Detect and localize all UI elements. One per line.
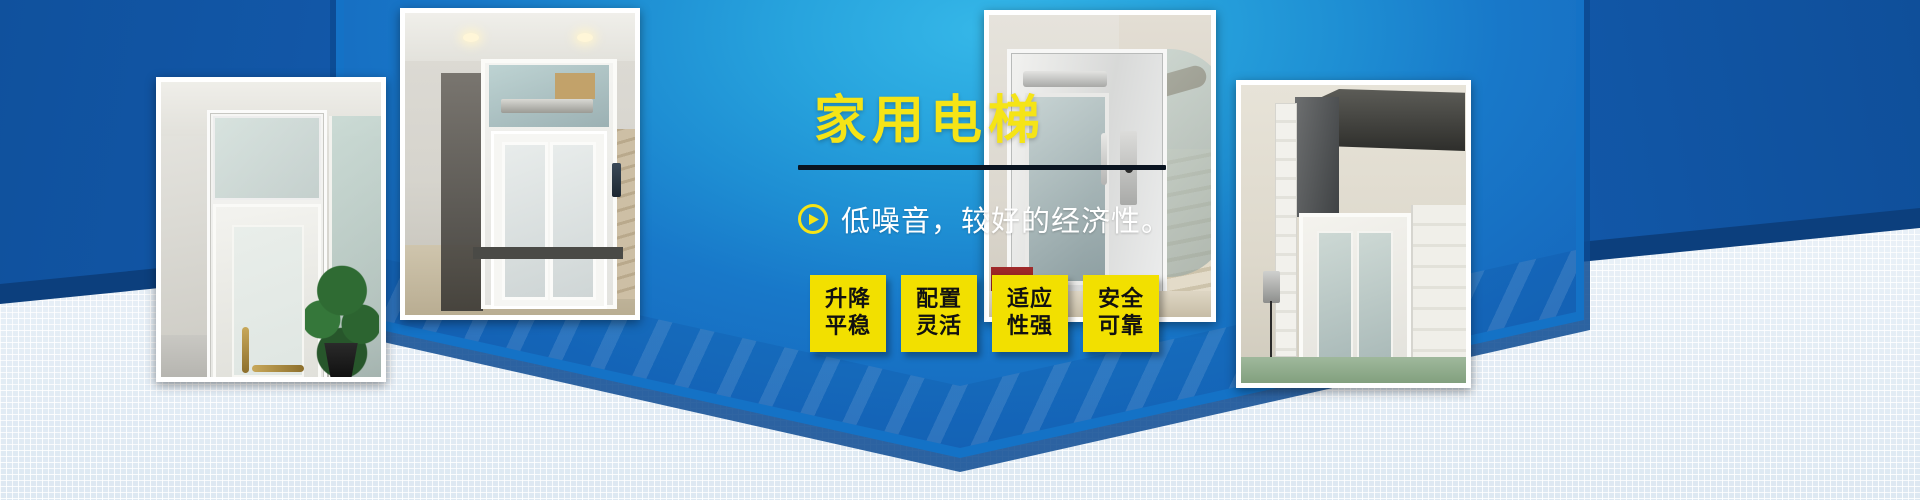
feature-tag-line2: 平稳 bbox=[825, 314, 871, 341]
photo-2-artwork bbox=[405, 13, 635, 315]
photo-4-artwork bbox=[1241, 85, 1466, 383]
circle-play-arrow-icon bbox=[798, 204, 828, 234]
photo-1-artwork bbox=[161, 82, 381, 377]
photo-home-elevator-glass-white bbox=[156, 77, 386, 382]
feature-tag-line2: 灵活 bbox=[916, 314, 962, 341]
feature-tag-line1: 升降 bbox=[825, 287, 871, 314]
subtitle-row: 低噪音，较好的经济性。 bbox=[798, 198, 1171, 240]
photo-home-elevator-installation bbox=[1236, 80, 1471, 388]
feature-tag-line1: 配置 bbox=[916, 287, 962, 314]
feature-tag-list: 升降 平稳 配置 灵活 适应 性强 安全 可靠 bbox=[810, 275, 1159, 352]
feature-tag-line1: 安全 bbox=[1098, 287, 1144, 314]
page-title: 家用电梯 bbox=[700, 78, 1160, 153]
feature-tag-line1: 适应 bbox=[1007, 287, 1053, 314]
feature-tag-line2: 可靠 bbox=[1098, 314, 1144, 341]
feature-tag-line2: 性强 bbox=[1007, 314, 1053, 341]
banner-content: 家用电梯 低噪音，较好的经济性。 升降 平稳 配置 灵活 适应 性强 bbox=[650, 0, 1270, 500]
photo-home-elevator-hallway bbox=[400, 8, 640, 320]
home-elevator-banner: 家用电梯 低噪音，较好的经济性。 升降 平稳 配置 灵活 适应 性强 bbox=[0, 0, 1920, 500]
feature-tag[interactable]: 适应 性强 bbox=[992, 275, 1068, 352]
feature-tag[interactable]: 配置 灵活 bbox=[901, 275, 977, 352]
banner-subtitle: 低噪音，较好的经济性。 bbox=[841, 198, 1171, 240]
feature-tag[interactable]: 升降 平稳 bbox=[810, 275, 886, 352]
feature-tag[interactable]: 安全 可靠 bbox=[1083, 275, 1159, 352]
title-divider bbox=[798, 165, 1166, 170]
